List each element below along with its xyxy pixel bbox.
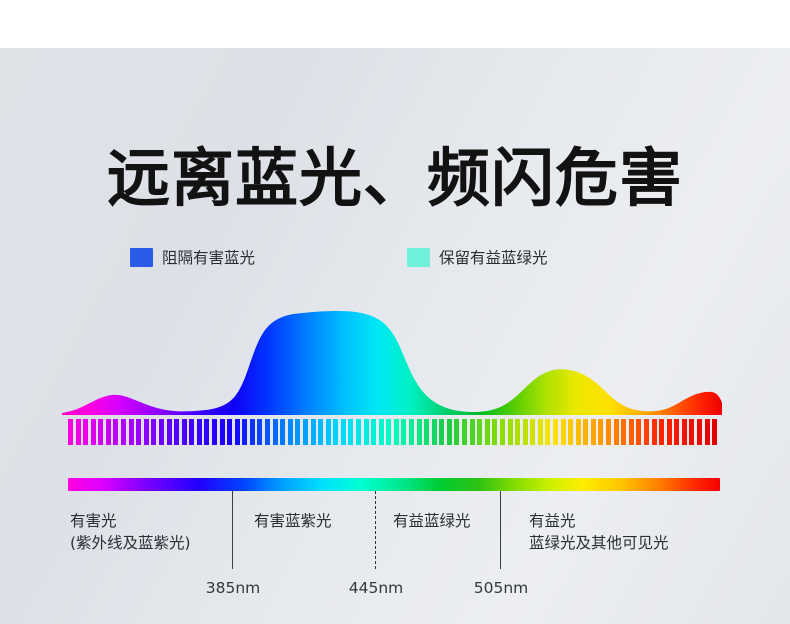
spectrum-stripe	[121, 419, 126, 445]
tick-label-505nm: 505nm	[474, 578, 529, 598]
spectrum-stripe	[674, 419, 679, 445]
spectrum-stripe	[197, 419, 202, 445]
spectrum-stripe-bar	[68, 419, 718, 445]
spectrum-stripe	[682, 419, 687, 445]
spectrum-stripe	[68, 419, 73, 445]
spectrum-stripe	[136, 419, 141, 445]
spectrum-stripe	[189, 419, 194, 445]
spectrum-stripe	[545, 419, 550, 445]
spectrum-stripe	[242, 419, 247, 445]
spectrum-stripe	[326, 419, 331, 445]
spectrum-stripe	[91, 419, 96, 445]
spectrum-stripe	[182, 419, 187, 445]
legend-item-harmful-blue: 阻隔有害蓝光	[130, 245, 255, 269]
spectrum-stripe	[500, 419, 505, 445]
spectrum-stripe	[652, 419, 657, 445]
spectrum-stripe	[629, 419, 634, 445]
spectrum-stripe	[348, 419, 353, 445]
band-label-line1: 有益蓝绿光	[393, 510, 471, 532]
spectrum-stripe	[280, 419, 285, 445]
spectrum-gradient-bar	[68, 478, 720, 491]
spectrum-stripe	[83, 419, 88, 445]
spectrum-stripe	[341, 419, 346, 445]
spectrum-stripe	[98, 419, 103, 445]
spectrum-stripe	[606, 419, 611, 445]
spectrum-stripe	[470, 419, 475, 445]
spectrum-stripe	[614, 419, 619, 445]
tick-label-385nm: 385nm	[206, 578, 261, 598]
spectrum-stripe	[356, 419, 361, 445]
spectrum-stripe	[235, 419, 240, 445]
spectrum-stripe	[432, 419, 437, 445]
spectrum-stripe	[371, 419, 376, 445]
spectrum-stripe	[76, 419, 81, 445]
spectrum-stripe	[144, 419, 149, 445]
legend: 阻隔有害蓝光 保留有益蓝绿光	[130, 245, 660, 269]
spectrum-stripe	[273, 419, 278, 445]
spectrum-stripe	[288, 419, 293, 445]
spectrum-stripe	[689, 419, 694, 445]
spectrum-stripe	[417, 419, 422, 445]
spectrum-stripe	[113, 419, 118, 445]
spectrum-stripe	[454, 419, 459, 445]
spectrum-stripe	[530, 419, 535, 445]
spectrum-stripe	[227, 419, 232, 445]
spectrum-stripe	[508, 419, 513, 445]
spectrum-stripe	[576, 419, 581, 445]
spectrum-stripe	[379, 419, 384, 445]
divider-385nm	[232, 491, 233, 569]
spectrum-stripe	[462, 419, 467, 445]
spectrum-stripe	[204, 419, 209, 445]
band-label-beneficial-visible: 有益光 蓝绿光及其他可见光	[529, 510, 669, 554]
spectrum-stripe	[568, 419, 573, 445]
spectrum-stripe	[174, 419, 179, 445]
spectrum-stripe	[386, 419, 391, 445]
spectrum-stripe	[106, 419, 111, 445]
spectrum-curve-svg	[62, 300, 722, 415]
spectrum-stripe	[303, 419, 308, 445]
band-label-line1: 有害光	[70, 510, 191, 532]
spectrum-stripe	[318, 419, 323, 445]
tick-label-445nm: 445nm	[349, 578, 404, 598]
divider-445nm	[375, 491, 376, 569]
page-title: 远离蓝光、频闪危害	[0, 143, 790, 215]
spectrum-stripe	[394, 419, 399, 445]
spectrum-stripe	[644, 419, 649, 445]
spectrum-stripe	[364, 419, 369, 445]
band-label-harmful-blue-violet: 有害蓝紫光	[254, 510, 332, 532]
band-label-line2: 蓝绿光及其他可见光	[529, 532, 669, 554]
spectrum-stripe	[561, 419, 566, 445]
spectrum-stripe	[333, 419, 338, 445]
band-label-harmful-uv: 有害光 (紫外线及蓝紫光)	[70, 510, 191, 554]
spectrum-stripe	[212, 419, 217, 445]
spectrum-stripe	[401, 419, 406, 445]
color-swatch-icon	[407, 248, 430, 267]
spectrum-stripe	[621, 419, 626, 445]
spectrum-stripe	[129, 419, 134, 445]
spectrum-stripe	[523, 419, 528, 445]
spectrum-stripe	[477, 419, 482, 445]
spectrum-stripe	[311, 419, 316, 445]
poster-root: 远离蓝光、频闪危害 阻隔有害蓝光 保留有益蓝绿光	[0, 0, 790, 624]
spectrum-stripe	[659, 419, 664, 445]
spectrum-stripe	[591, 419, 596, 445]
spectrum-stripe	[553, 419, 558, 445]
spectrum-stripe	[697, 419, 702, 445]
spectrum-stripe	[583, 419, 588, 445]
spectrum-stripe	[257, 419, 262, 445]
spectrum-stripe	[447, 419, 452, 445]
spectrum-stripe	[265, 419, 270, 445]
spectrum-stripe	[636, 419, 641, 445]
color-swatch-icon	[130, 248, 153, 267]
spectrum-stripe	[515, 419, 520, 445]
spectrum-stripe	[598, 419, 603, 445]
band-label-line1: 有害蓝紫光	[254, 510, 332, 532]
top-white-band	[0, 0, 790, 48]
spectrum-stripe	[159, 419, 164, 445]
spectrum-stripe	[151, 419, 156, 445]
spectrum-stripe	[538, 419, 543, 445]
band-label-beneficial-blue-green: 有益蓝绿光	[393, 510, 471, 532]
spectrum-stripe	[220, 419, 225, 445]
spectrum-curve-path	[62, 311, 722, 415]
spectrum-stripe	[250, 419, 255, 445]
spectrum-stripe	[167, 419, 172, 445]
spectrum-stripe	[667, 419, 672, 445]
band-label-line2: (紫外线及蓝紫光)	[70, 532, 191, 554]
spectrum-curve-chart	[62, 300, 722, 415]
legend-item-label: 阻隔有害蓝光	[162, 246, 255, 268]
spectrum-stripe	[712, 419, 717, 445]
spectrum-stripe	[485, 419, 490, 445]
spectrum-stripe	[705, 419, 710, 445]
spectrum-stripe	[492, 419, 497, 445]
divider-505nm	[500, 491, 501, 569]
spectrum-stripe	[409, 419, 414, 445]
legend-item-beneficial-cyan: 保留有益蓝绿光	[407, 245, 548, 269]
spectrum-stripe	[295, 419, 300, 445]
band-label-line1: 有益光	[529, 510, 669, 532]
spectrum-stripe	[439, 419, 444, 445]
legend-item-label: 保留有益蓝绿光	[439, 246, 548, 268]
spectrum-stripe	[424, 419, 429, 445]
